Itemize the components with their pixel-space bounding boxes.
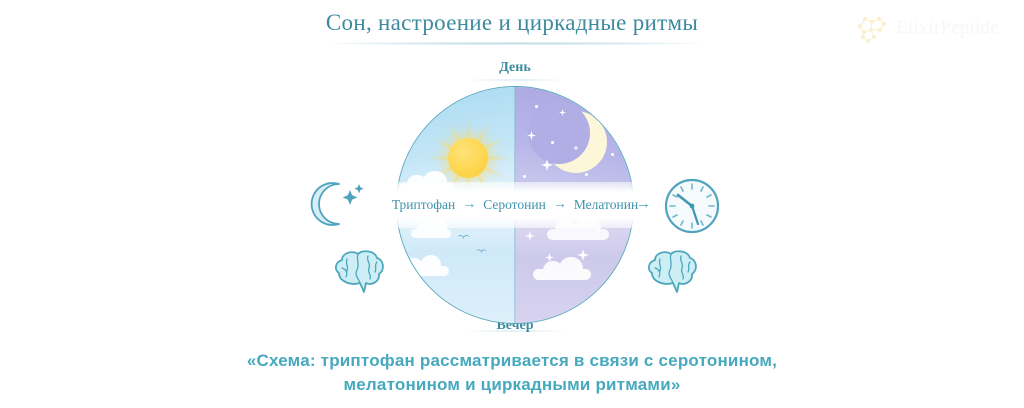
arrow-icon: →	[462, 197, 476, 213]
infographic-canvas: Сон, настроение и циркадные ритмы	[0, 0, 1024, 408]
bird-icon	[457, 235, 470, 242]
star-icon	[525, 231, 535, 241]
pathway-chain: Триптофан → Серотонин → Мелатонин	[396, 197, 634, 213]
caption-line-1: «Схема: триптофан рассматривается в связ…	[0, 349, 1024, 373]
clock-icon	[662, 176, 722, 236]
figure-caption: «Схема: триптофан рассматривается в связ…	[0, 349, 1024, 397]
crescent-moon-icon	[303, 178, 365, 230]
brain-icon	[643, 248, 701, 294]
arrow-to-clock-icon: →	[636, 196, 651, 213]
label-day: День	[415, 60, 615, 76]
chain-step-melatonin: Мелатонин	[574, 197, 638, 213]
chain-step-serotonin: Серотонин	[483, 197, 546, 213]
circadian-circle: Триптофан → Серотонин → Мелатонин	[396, 86, 634, 324]
chain-step-tryptophan: Триптофан	[392, 197, 455, 213]
label-day-underline	[468, 79, 564, 81]
page-title: Сон, настроение и циркадные ритмы	[0, 10, 1024, 36]
caption-line-2: мелатонином и циркадными ритмами»	[0, 373, 1024, 397]
title-divider	[332, 42, 698, 45]
brain-icon	[330, 248, 388, 294]
bird-icon	[476, 249, 488, 255]
arrow-icon: →	[553, 197, 567, 213]
